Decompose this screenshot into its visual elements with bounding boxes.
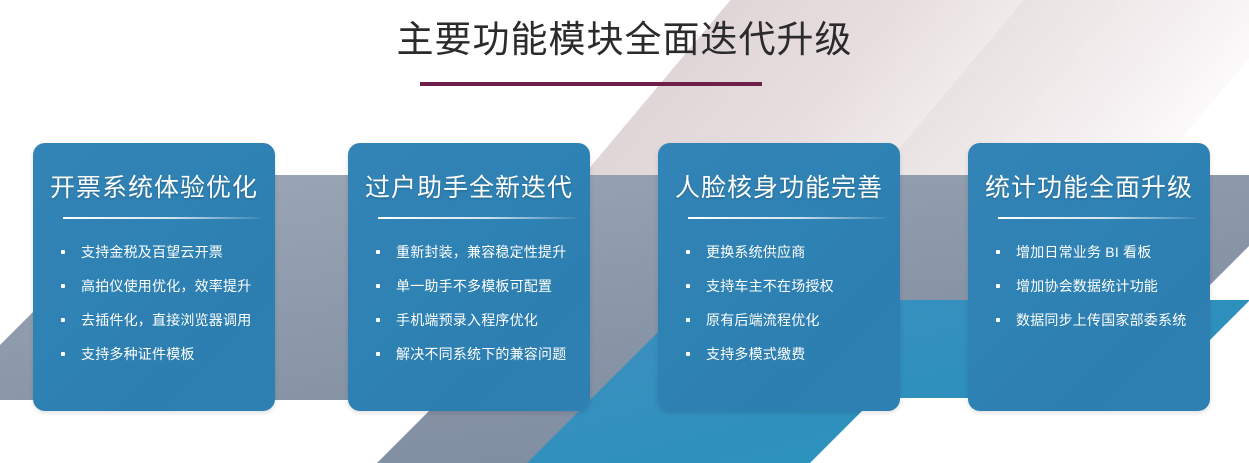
bullet-dot-icon (996, 284, 1000, 288)
list-item: 重新封装，兼容稳定性提升 (370, 243, 578, 261)
list-item-label: 数据同步上传国家部委系统 (1016, 312, 1186, 328)
feature-card-3-title: 人脸核身功能完善 (670, 171, 888, 205)
list-item: 单一助手不多模板可配置 (370, 277, 578, 295)
bullet-dot-icon (376, 250, 380, 254)
page-title-container: 主要功能模块全面迭代升级 (0, 16, 1249, 64)
bullet-dot-icon (996, 250, 1000, 254)
bullet-dot-icon (686, 352, 690, 356)
list-item: 增加日常业务 BI 看板 (990, 243, 1198, 261)
page-title: 主要功能模块全面迭代升级 (0, 16, 1249, 64)
list-item-label: 去插件化，直接浏览器调用 (81, 312, 251, 328)
list-item-label: 支持多种证件模板 (81, 346, 195, 362)
bullet-dot-icon (686, 250, 690, 254)
list-item-label: 解决不同系统下的兼容问题 (396, 346, 566, 362)
feature-card-1-bullet-list: 支持金税及百望云开票 高拍仪使用优化，效率提升 去插件化，直接浏览器调用 支持多… (45, 243, 263, 363)
feature-card-3[interactable]: 人脸核身功能完善 更换系统供应商 支持车主不在场授权 原有后端流程优化 支持多模… (658, 143, 900, 411)
list-item-label: 支持多模式缴费 (706, 346, 805, 362)
list-item-label: 重新封装，兼容稳定性提升 (396, 244, 566, 260)
list-item: 去插件化，直接浏览器调用 (55, 311, 263, 329)
bullet-dot-icon (61, 284, 65, 288)
list-item: 支持车主不在场授权 (680, 277, 888, 295)
feature-card-1[interactable]: 开票系统体验优化 支持金税及百望云开票 高拍仪使用优化，效率提升 去插件化，直接… (33, 143, 275, 411)
list-item: 手机端预录入程序优化 (370, 311, 578, 329)
list-item-label: 高拍仪使用优化，效率提升 (81, 278, 251, 294)
feature-card-row: 开票系统体验优化 支持金税及百望云开票 高拍仪使用优化，效率提升 去插件化，直接… (0, 143, 1249, 413)
bullet-dot-icon (61, 352, 65, 356)
feature-card-1-divider (63, 217, 261, 219)
list-item: 增加协会数据统计功能 (990, 277, 1198, 295)
bullet-dot-icon (61, 250, 65, 254)
feature-card-3-divider (688, 217, 886, 219)
feature-card-4-divider (998, 217, 1196, 219)
list-item-label: 支持金税及百望云开票 (81, 244, 223, 260)
list-item: 原有后端流程优化 (680, 311, 888, 329)
bullet-dot-icon (686, 284, 690, 288)
bullet-dot-icon (376, 352, 380, 356)
list-item-label: 原有后端流程优化 (706, 312, 820, 328)
list-item: 解决不同系统下的兼容问题 (370, 345, 578, 363)
feature-card-2-title: 过户助手全新迭代 (360, 171, 578, 205)
feature-card-2-divider (378, 217, 576, 219)
bullet-dot-icon (686, 318, 690, 322)
feature-card-3-bullet-list: 更换系统供应商 支持车主不在场授权 原有后端流程优化 支持多模式缴费 (670, 243, 888, 363)
slide-canvas: 主要功能模块全面迭代升级 开票系统体验优化 支持金税及百望云开票 高拍仪使用优化… (0, 0, 1249, 463)
list-item: 数据同步上传国家部委系统 (990, 311, 1198, 329)
bullet-dot-icon (376, 284, 380, 288)
list-item: 支持金税及百望云开票 (55, 243, 263, 261)
list-item-label: 增加日常业务 BI 看板 (1016, 244, 1151, 260)
feature-card-2-bullet-list: 重新封装，兼容稳定性提升 单一助手不多模板可配置 手机端预录入程序优化 解决不同… (360, 243, 578, 363)
feature-card-1-title: 开票系统体验优化 (45, 171, 263, 205)
feature-card-4-title: 统计功能全面升级 (980, 171, 1198, 205)
list-item: 高拍仪使用优化，效率提升 (55, 277, 263, 295)
bullet-dot-icon (61, 318, 65, 322)
list-item: 支持多模式缴费 (680, 345, 888, 363)
list-item-label: 增加协会数据统计功能 (1016, 278, 1158, 294)
bullet-dot-icon (996, 318, 1000, 322)
feature-card-2[interactable]: 过户助手全新迭代 重新封装，兼容稳定性提升 单一助手不多模板可配置 手机端预录入… (348, 143, 590, 411)
list-item-label: 更换系统供应商 (706, 244, 805, 260)
list-item: 支持多种证件模板 (55, 345, 263, 363)
list-item-label: 手机端预录入程序优化 (396, 312, 538, 328)
feature-card-4[interactable]: 统计功能全面升级 增加日常业务 BI 看板 增加协会数据统计功能 数据同步上传国… (968, 143, 1210, 411)
title-underline-rule (420, 82, 762, 86)
list-item-label: 单一助手不多模板可配置 (396, 278, 552, 294)
bullet-dot-icon (376, 318, 380, 322)
list-item-label: 支持车主不在场授权 (706, 278, 834, 294)
list-item: 更换系统供应商 (680, 243, 888, 261)
feature-card-4-bullet-list: 增加日常业务 BI 看板 增加协会数据统计功能 数据同步上传国家部委系统 (980, 243, 1198, 329)
